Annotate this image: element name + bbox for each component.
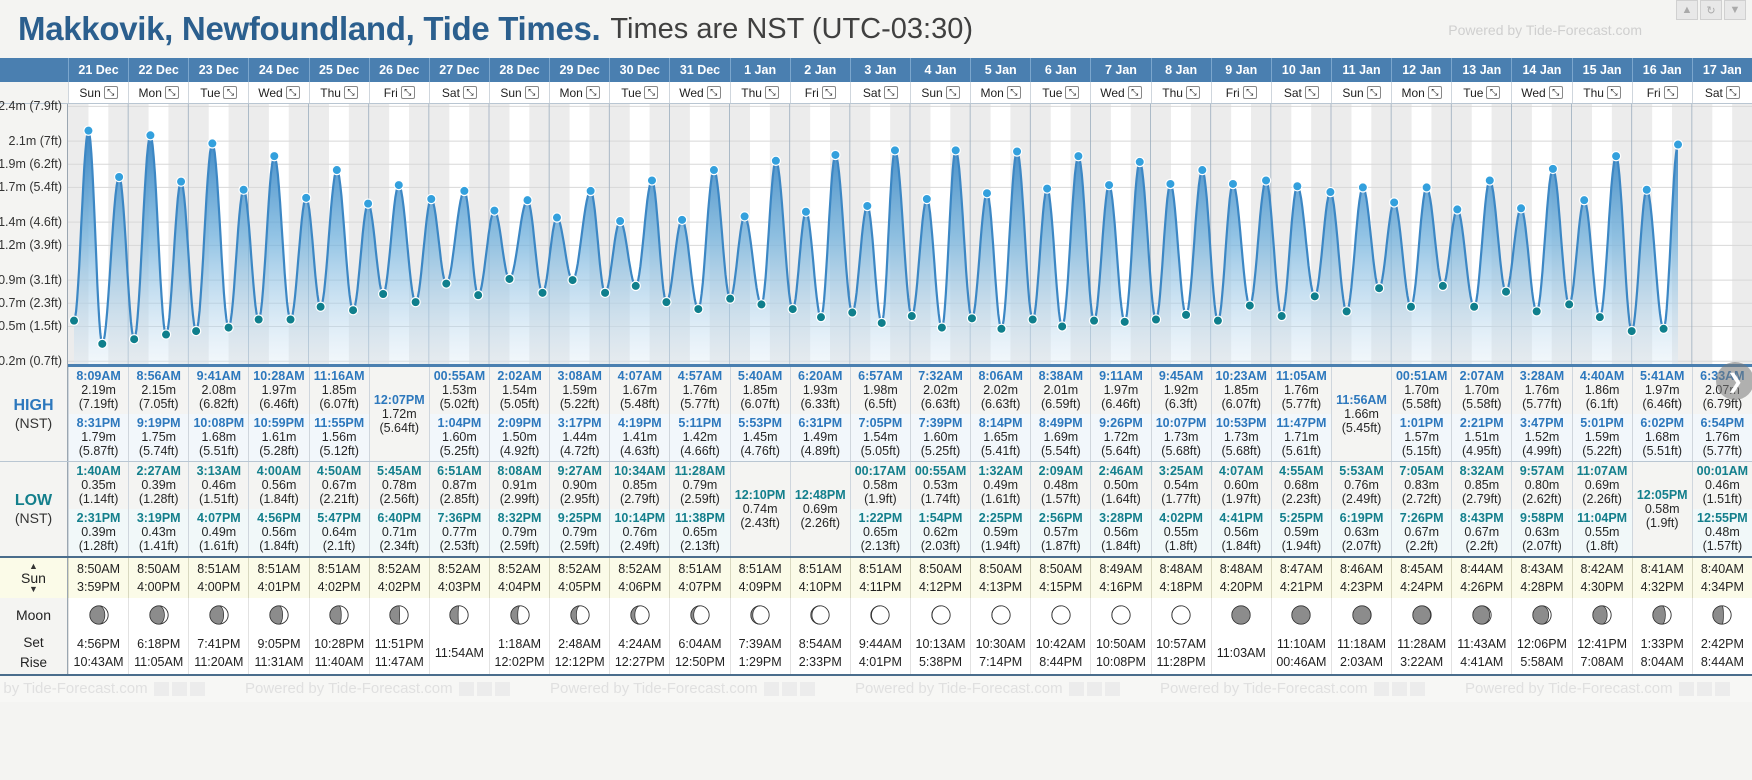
day-of-week-text: Mon <box>1401 86 1424 100</box>
low-tide-entry: 11:04PM0.55m(1.8ft) <box>1573 509 1632 556</box>
moonset-time: 1:18AM <box>498 635 541 653</box>
low-tide-point <box>69 316 78 325</box>
high-tide-feet: (6.63ft) <box>911 397 970 411</box>
low-tide-meters: 0.62m <box>911 525 970 539</box>
low-tide-meters: 0.67m <box>1452 525 1511 539</box>
moonset-time: 10:13AM <box>916 635 966 653</box>
expand-icon[interactable]: ⤡ <box>165 86 179 99</box>
moon-phase-cell <box>1090 598 1150 632</box>
low-tide-feet: (2.56ft) <box>370 492 429 506</box>
sunset-time: 4:10PM <box>799 578 842 596</box>
watermark-icon-group <box>1679 682 1730 696</box>
high-tide-point <box>115 172 124 181</box>
low-tide-entry: 1:54PM0.62m(2.03ft) <box>911 509 970 556</box>
sunrise-time: 8:51AM <box>859 560 902 578</box>
moonrise-time: 11:40AM <box>315 653 364 671</box>
low-tide-time: 4:07PM <box>189 511 248 525</box>
high-tide-feet: (5.77ft) <box>1512 397 1571 411</box>
low-tide-cell: 5:45AM0.78m(2.56ft)6:40PM0.71m(2.34ft) <box>369 462 429 556</box>
low-tide-time: 9:57AM <box>1512 464 1571 478</box>
low-tide-meters: 0.39m <box>129 478 188 492</box>
high-tide-point <box>176 177 185 186</box>
watermark-text: Powered by Tide-Forecast.com <box>245 680 510 697</box>
day-of-week-cell[interactable]: Sat⤡ <box>1271 82 1331 103</box>
high-tide-point <box>1198 165 1207 174</box>
moon-setrise-cell: 10:42AM8:44PM <box>1030 632 1090 674</box>
low-tide-entry: 9:25PM0.79m(2.59ft) <box>550 509 609 556</box>
high-tide-feet: (5.51ft) <box>1633 444 1692 458</box>
expand-icon[interactable]: ⤡ <box>586 86 600 99</box>
low-tide-time: 4:07AM <box>1212 464 1271 478</box>
low-tide-entry: 11:28AM0.79m(2.59ft) <box>670 462 729 509</box>
low-tide-feet: (1.61ft) <box>189 539 248 553</box>
high-tide-entry: 5:01PM1.59m(5.22ft) <box>1573 414 1632 461</box>
low-tide-entry: 12:55PM0.48m(1.57ft) <box>1693 509 1752 556</box>
expand-icon[interactable]: ⤡ <box>1664 86 1678 99</box>
low-tide-feet: (2.62ft) <box>1512 492 1571 506</box>
moonrise-label-text: Rise <box>20 653 47 673</box>
expand-icon[interactable]: ⤡ <box>644 86 658 99</box>
low-tide-time: 8:32AM <box>1452 464 1511 478</box>
day-of-week-text: Thu <box>1162 86 1183 100</box>
high-tide-meters: 1.70m <box>1392 383 1451 397</box>
day-of-week-text: Tue <box>200 86 220 100</box>
high-tide-cell: 3:28AM1.76m(5.77ft)3:47PM1.52m(4.99ft) <box>1511 367 1571 461</box>
moon-phase-cell <box>1151 598 1211 632</box>
low-tide-entry: 2:31PM0.39m(1.28ft) <box>69 509 128 556</box>
date-header-cell: 26 Dec <box>369 58 429 82</box>
low-tide-cell: 3:13AM0.46m(1.51ft)4:07PM0.49m(1.61ft) <box>188 462 248 556</box>
low-tide-entry: 9:58PM0.63m(2.07ft) <box>1512 509 1571 556</box>
day-of-week-cell[interactable]: Fri⤡ <box>1211 82 1271 103</box>
day-of-week-cell[interactable]: Mon⤡ <box>1391 82 1451 103</box>
moon-setrise-cell: 11:03AM <box>1211 632 1271 674</box>
day-of-week-text: Fri <box>1226 86 1240 100</box>
moon-setrise-cell: 11:18AM2:03AM <box>1331 632 1391 674</box>
sunrise-time: 8:51AM <box>197 560 240 578</box>
day-of-week-cell[interactable]: Sun⤡ <box>1331 82 1391 103</box>
day-of-week-cell[interactable]: Wed⤡ <box>1511 82 1571 103</box>
day-of-week-cell[interactable]: Tue⤡ <box>1030 82 1090 103</box>
low-tide-meters: 0.43m <box>129 525 188 539</box>
expand-icon[interactable]: ⤡ <box>822 86 836 99</box>
next-page-arrow-icon[interactable]: ❯ <box>1716 362 1752 400</box>
high-tide-time: 5:53PM <box>731 416 790 430</box>
expand-icon[interactable]: ⤡ <box>463 86 477 99</box>
moon-setrise-cell: 7:41PM11:20AM <box>188 632 248 674</box>
moon-phase-icon <box>1290 604 1312 626</box>
high-tide-entry: 3:08AM1.59m(5.22ft) <box>550 367 609 414</box>
day-of-week-cell[interactable]: Tue⤡ <box>609 82 669 103</box>
high-tide-point <box>1548 164 1557 173</box>
high-tide-feet: (5.77ft) <box>1693 444 1752 458</box>
day-of-week-text: Wed <box>1100 86 1124 100</box>
moon-setrise-cell: 11:51PM11:47AM <box>369 632 429 674</box>
low-tide-meters: 0.49m <box>971 478 1030 492</box>
low-tide-entry: 00:01AM0.46m(1.51ft) <box>1693 462 1752 509</box>
high-tide-time: 2:07AM <box>1452 369 1511 383</box>
high-tide-feet: (7.05ft) <box>129 397 188 411</box>
day-of-week-text: Tue <box>1463 86 1483 100</box>
low-tide-point <box>631 281 640 290</box>
high-tide-cell: 2:07AM1.70m(5.58ft)2:21PM1.51m(4.95ft) <box>1451 367 1511 461</box>
high-tide-feet: (6.07ft) <box>731 397 790 411</box>
share-icon[interactable]: ▲ <box>1676 0 1698 20</box>
expand-icon[interactable]: ⤡ <box>1607 86 1621 99</box>
sun-cell: 8:47AM4:21PM <box>1271 558 1331 598</box>
low-tide-time: 2:25PM <box>971 511 1030 525</box>
high-tide-meters: 1.68m <box>1633 430 1692 444</box>
high-tide-entry: 3:28AM1.76m(5.77ft) <box>1512 367 1571 414</box>
expand-icon[interactable]: ⤡ <box>1065 86 1079 99</box>
high-tide-entry: 10:53PM1.73m(5.68ft) <box>1212 414 1271 461</box>
high-tide-point <box>1012 147 1021 156</box>
low-tide-entry: 6:19PM0.63m(2.07ft) <box>1332 509 1391 556</box>
moonrise-time: 10:08PM <box>1096 653 1146 671</box>
high-tide-time: 11:47PM <box>1272 416 1331 430</box>
expand-icon[interactable]: ⤡ <box>1128 86 1142 99</box>
high-tide-time: 8:38AM <box>1031 369 1090 383</box>
day-of-week-cell[interactable]: Fri⤡ <box>369 82 429 103</box>
date-header-cell: 6 Jan <box>1030 58 1090 82</box>
low-tide-time: 2:09AM <box>1031 464 1090 478</box>
day-of-week-text: Sun <box>79 86 100 100</box>
low-tide-point <box>1375 284 1384 293</box>
high-tide-point <box>332 165 341 174</box>
low-tide-feet: (2.26ft) <box>791 516 850 530</box>
high-tide-meters: 1.42m <box>670 430 729 444</box>
low-tide-feet: (1.77ft) <box>1152 492 1211 506</box>
low-tide-point <box>568 276 577 285</box>
day-of-week-cell[interactable]: Sat⤡ <box>850 82 910 103</box>
high-tide-time: 8:56AM <box>129 369 188 383</box>
date-header-cell: 1 Jan <box>730 58 790 82</box>
high-tide-entry: 8:49PM1.69m(5.54ft) <box>1031 414 1090 461</box>
high-tide-time: 3:47PM <box>1512 416 1571 430</box>
high-tide-meters: 1.75m <box>129 430 188 444</box>
expand-icon[interactable]: ⤡ <box>1726 86 1740 99</box>
expand-icon[interactable]: ⤡ <box>1486 86 1500 99</box>
moon-setrise-cell: 11:54AM <box>429 632 489 674</box>
expand-icon[interactable]: ⤡ <box>344 86 358 99</box>
low-tide-feet: (2.13ft) <box>851 539 910 553</box>
high-tide-cell: 8:38AM2.01m(6.59ft)8:49PM1.69m(5.54ft) <box>1030 367 1090 461</box>
low-tide-cell: 9:27AM0.90m(2.95ft)9:25PM0.79m(2.59ft) <box>549 462 609 556</box>
low-tide-section: LOW (NST) 1:40AM0.35m(1.14ft)2:31PM0.39m… <box>0 462 1752 556</box>
expand-icon[interactable]: ⤡ <box>286 86 300 99</box>
expand-icon[interactable]: ⤡ <box>525 86 539 99</box>
low-tide-entry: 4:55AM0.68m(2.23ft) <box>1272 462 1331 509</box>
expand-icon[interactable]: ⤡ <box>765 86 779 99</box>
moon-phase-icon <box>88 604 110 626</box>
low-tide-time: 2:56PM <box>1031 511 1090 525</box>
high-tide-meters: 1.69m <box>1031 430 1090 444</box>
low-tide-meters: 0.53m <box>911 478 970 492</box>
sun-cell: 8:50AM4:00PM <box>128 558 188 598</box>
high-tide-time: 6:57AM <box>851 369 910 383</box>
low-tide-meters: 0.63m <box>1512 525 1571 539</box>
high-tide-cell: 4:07AM1.67m(5.48ft)4:19PM1.41m(4.63ft) <box>609 367 669 461</box>
moon-phase-icon <box>388 604 410 626</box>
day-of-week-cell[interactable]: Thu⤡ <box>309 82 369 103</box>
day-of-week-cell[interactable]: Thu⤡ <box>730 82 790 103</box>
high-tide-cell: 2:02AM1.54m(5.05ft)2:09PM1.50m(4.92ft) <box>489 367 549 461</box>
high-tide-meters: 1.73m <box>1212 430 1271 444</box>
moon-phase-cell <box>1271 598 1331 632</box>
high-tide-entry: 9:45AM1.92m(6.3ft) <box>1152 367 1211 414</box>
high-tide-meters: 1.52m <box>1512 430 1571 444</box>
low-tide-cell: 12:05PM0.58m(1.9ft) <box>1632 462 1692 556</box>
expand-icon[interactable]: ⤡ <box>707 86 721 99</box>
low-tide-entry: 3:28PM0.56m(1.84ft) <box>1091 509 1150 556</box>
high-tide-feet: (6.07ft) <box>310 397 369 411</box>
sun-cell: 8:40AM4:34PM <box>1692 558 1752 598</box>
low-tide-point <box>1470 302 1479 311</box>
sun-cell: 8:51AM4:02PM <box>309 558 369 598</box>
day-of-week-cell[interactable]: Tue⤡ <box>1451 82 1511 103</box>
day-of-week-cell[interactable]: Thu⤡ <box>1572 82 1632 103</box>
low-tide-cell: 11:28AM0.79m(2.59ft)11:38PM0.65m(2.13ft) <box>669 462 729 556</box>
high-tide-entry: 6:54PM1.76m(5.77ft) <box>1693 414 1752 461</box>
low-tide-point <box>877 318 886 327</box>
high-tide-meters: 1.54m <box>851 430 910 444</box>
low-tide-time: 4:55AM <box>1272 464 1331 478</box>
sunset-time: 4:00PM <box>137 578 180 596</box>
high-tide-meters: 1.85m <box>310 383 369 397</box>
moonset-time: 4:24AM <box>618 635 661 653</box>
low-tide-entry: 12:48PM0.69m(2.26ft) <box>791 486 850 533</box>
sun-cell: 8:50AM4:13PM <box>970 558 1030 598</box>
day-of-week-cell[interactable]: Tue⤡ <box>188 82 248 103</box>
date-header-cell: 7 Jan <box>1090 58 1150 82</box>
high-tide-time: 9:26PM <box>1091 416 1150 430</box>
high-tide-point <box>1453 205 1462 214</box>
high-tide-meters: 1.57m <box>1392 430 1451 444</box>
low-tide-meters: 0.76m <box>610 525 669 539</box>
sunset-time: 3:59PM <box>77 578 120 596</box>
day-of-week-text: Sat <box>1705 86 1723 100</box>
low-tide-time: 1:40AM <box>69 464 128 478</box>
day-of-week-cell[interactable]: Wed⤡ <box>669 82 729 103</box>
low-tide-feet: (2.95ft) <box>550 492 609 506</box>
high-tide-feet: (7.19ft) <box>69 397 128 411</box>
high-tide-feet: (6.82ft) <box>189 397 248 411</box>
page-title: Makkovik, Newfoundland, Tide Times. <box>18 10 600 48</box>
sun-cell: 8:45AM4:24PM <box>1391 558 1451 598</box>
day-of-week-text: Mon <box>981 86 1004 100</box>
low-tide-entry: 00:17AM0.58m(1.9ft) <box>851 462 910 509</box>
low-tide-time: 4:56PM <box>249 511 308 525</box>
expand-icon[interactable]: ⤡ <box>1007 86 1021 99</box>
sunrise-time: 8:51AM <box>739 560 782 578</box>
y-axis-tick-label: 0.2m (0.7ft) <box>0 354 62 368</box>
day-of-week-cell[interactable]: Fri⤡ <box>790 82 850 103</box>
high-tide-feet: (4.99ft) <box>1512 444 1571 458</box>
low-tide-meters: 0.65m <box>851 525 910 539</box>
sun-cell: 8:52AM4:04PM <box>489 558 549 598</box>
low-tide-cell: 4:07AM0.60m(1.97ft)4:41PM0.56m(1.84ft) <box>1211 462 1271 556</box>
sun-label-text: Sun <box>21 571 46 585</box>
sunset-time: 4:24PM <box>1400 578 1443 596</box>
day-of-week-cell[interactable]: Mon⤡ <box>128 82 188 103</box>
high-tide-time: 10:08PM <box>189 416 248 430</box>
high-tide-point <box>1580 196 1589 205</box>
expand-icon[interactable]: ⤡ <box>1428 86 1442 99</box>
sunset-time: 4:02PM <box>378 578 421 596</box>
sunset-time: 4:07PM <box>678 578 721 596</box>
sun-cell: 8:46AM4:23PM <box>1331 558 1391 598</box>
expand-icon[interactable]: ⤡ <box>1305 86 1319 99</box>
sunset-time: 4:15PM <box>1039 578 1082 596</box>
moon-setrise-cell: 1:18AM12:02PM <box>489 632 549 674</box>
expand-icon[interactable]: ⤡ <box>1243 86 1257 99</box>
high-tide-time: 10:53PM <box>1212 416 1271 430</box>
low-tide-meters: 0.76m <box>1332 478 1391 492</box>
high-tide-cell: 11:56AM1.66m(5.45ft) <box>1331 367 1391 461</box>
high-tide-entry: 4:40AM1.86m(6.1ft) <box>1573 367 1632 414</box>
low-tide-entry: 4:00AM0.56m(1.84ft) <box>249 462 308 509</box>
day-of-week-cell[interactable]: Wed⤡ <box>1090 82 1150 103</box>
moon-phase-icon <box>1170 604 1192 626</box>
low-tide-entry: 7:36PM0.77m(2.53ft) <box>430 509 489 556</box>
low-tide-point <box>1406 302 1415 311</box>
day-of-week-cell[interactable]: Fri⤡ <box>1632 82 1692 103</box>
high-tide-point <box>677 215 686 224</box>
high-tide-time: 10:07PM <box>1152 416 1211 430</box>
expand-icon[interactable]: ⤡ <box>1367 86 1381 99</box>
sunrise-time: 8:51AM <box>257 560 300 578</box>
high-tide-meters: 1.97m <box>1091 383 1150 397</box>
day-of-week-cell[interactable]: Mon⤡ <box>549 82 609 103</box>
high-tide-entry: 7:39PM1.60m(5.25ft) <box>911 414 970 461</box>
low-tide-entry: 2:56PM0.57m(1.87ft) <box>1031 509 1090 556</box>
low-tide-time: 7:36PM <box>430 511 489 525</box>
moonset-time: 7:39AM <box>739 635 782 653</box>
sunset-time: 4:23PM <box>1340 578 1383 596</box>
sunrise-time: 8:52AM <box>438 560 481 578</box>
high-tide-meters: 1.97m <box>249 383 308 397</box>
moon-phase-cell <box>369 598 429 632</box>
expand-icon[interactable]: ⤡ <box>884 86 898 99</box>
watermark-icon-group <box>459 682 510 696</box>
low-tide-feet: (1.84ft) <box>1212 539 1271 553</box>
high-tide-feet: (5.41ft) <box>971 444 1030 458</box>
low-tide-meters: 0.85m <box>610 478 669 492</box>
day-of-week-text: Mon <box>560 86 583 100</box>
low-tide-point <box>316 302 325 311</box>
moon-phase-icon <box>569 604 591 626</box>
low-tide-point <box>1058 322 1067 331</box>
low-tide-meters: 0.79m <box>490 525 549 539</box>
high-tide-point <box>922 194 931 203</box>
moon-phase-icon <box>509 604 531 626</box>
moonrise-time: 10:43AM <box>74 653 124 671</box>
low-tide-point <box>757 300 766 309</box>
moonset-time: 11:10AM <box>1277 635 1326 653</box>
expand-icon[interactable]: ⤡ <box>1549 86 1563 99</box>
high-tide-point <box>302 193 311 202</box>
high-tide-point <box>460 186 469 195</box>
expand-icon[interactable]: ⤡ <box>946 86 960 99</box>
low-tide-meters: 0.55m <box>1573 525 1632 539</box>
day-of-week-cell[interactable]: Mon⤡ <box>970 82 1030 103</box>
low-tide-time: 2:27AM <box>129 464 188 478</box>
sunset-time: 4:13PM <box>979 578 1022 596</box>
refresh-icon[interactable]: ↻ <box>1700 0 1722 20</box>
high-tide-meters: 2.02m <box>971 383 1030 397</box>
day-of-week-cell[interactable]: Sat⤡ <box>429 82 489 103</box>
low-tide-entry: 1:22PM0.65m(2.13ft) <box>851 509 910 556</box>
moon-phase-cells <box>68 598 1752 632</box>
low-tide-point <box>286 315 295 324</box>
low-tide-point <box>1277 311 1286 320</box>
low-tide-feet: (1.84ft) <box>1091 539 1150 553</box>
moon-phase-icon <box>268 604 290 626</box>
low-tide-point <box>997 324 1006 333</box>
high-tide-meters: 1.86m <box>1573 383 1632 397</box>
high-tide-entry: 1:04PM1.60m(5.25ft) <box>430 414 489 461</box>
day-of-week-cell[interactable]: Thu⤡ <box>1151 82 1211 103</box>
moonset-time: 8:54AM <box>799 635 842 653</box>
low-tide-entry: 00:55AM0.53m(1.74ft) <box>911 462 970 509</box>
low-tide-time: 8:32PM <box>490 511 549 525</box>
low-tide-feet: (1.61ft) <box>971 492 1030 506</box>
sunset-time: 4:02PM <box>318 578 361 596</box>
high-tide-point <box>1261 176 1270 185</box>
high-tide-meters: 1.70m <box>1452 383 1511 397</box>
high-tide-entry: 7:05PM1.54m(5.05ft) <box>851 414 910 461</box>
day-of-week-cell[interactable]: Wed⤡ <box>248 82 308 103</box>
day-of-week-cell[interactable]: Sun⤡ <box>68 82 128 103</box>
high-tide-time: 1:01PM <box>1392 416 1451 430</box>
day-of-week-row: Sun⤡Mon⤡Tue⤡Wed⤡Thu⤡Fri⤡Sat⤡Sun⤡Mon⤡Tue⤡… <box>0 82 1752 104</box>
low-label-tz: (NST) <box>15 510 52 526</box>
expand-icon[interactable]: ⤡ <box>401 86 415 99</box>
expand-icon[interactable]: ⤡ <box>1186 86 1200 99</box>
date-header-cell: 29 Dec <box>549 58 609 82</box>
high-tide-meters: 1.50m <box>490 430 549 444</box>
low-tide-meters: 0.46m <box>189 478 248 492</box>
download-icon[interactable]: ▼ <box>1724 0 1746 20</box>
sun-cell: 8:41AM4:32PM <box>1632 558 1692 598</box>
expand-icon[interactable]: ⤡ <box>223 86 237 99</box>
high-tide-point <box>552 213 561 222</box>
sun-cell: 8:52AM4:05PM <box>549 558 609 598</box>
high-tide-point <box>523 196 532 205</box>
expand-icon[interactable]: ⤡ <box>104 86 118 99</box>
high-label-tz: (NST) <box>15 415 52 431</box>
high-tide-time: 11:55PM <box>310 416 369 430</box>
y-axis-tick-label: 0.7m (2.3ft) <box>0 296 62 310</box>
low-tide-entry: 5:45AM0.78m(2.56ft) <box>370 462 429 509</box>
moon-phase-icon <box>1351 604 1373 626</box>
day-of-week-cell[interactable]: Sun⤡ <box>910 82 970 103</box>
day-of-week-cell[interactable]: Sun⤡ <box>489 82 549 103</box>
low-tide-feet: (1.9ft) <box>851 492 910 506</box>
moon-phase-icon <box>689 604 711 626</box>
high-tide-cell: 8:09AM2.19m(7.19ft)8:31PM1.79m(5.87ft) <box>68 367 128 461</box>
low-tide-meters: 0.87m <box>430 478 489 492</box>
moonrise-time: 11:47AM <box>375 653 424 671</box>
low-tide-point <box>694 304 703 313</box>
day-of-week-cell[interactable]: Sat⤡ <box>1692 82 1752 103</box>
watermark-label: Powered by Tide-Forecast.com <box>855 680 1063 697</box>
low-tide-feet: (1.28ft) <box>69 539 128 553</box>
high-tide-feet: (6.79ft) <box>1693 397 1752 411</box>
low-tide-point <box>474 291 483 300</box>
low-tide-point <box>1151 315 1160 324</box>
low-tide-entry: 8:08AM0.91m(2.99ft) <box>490 462 549 509</box>
